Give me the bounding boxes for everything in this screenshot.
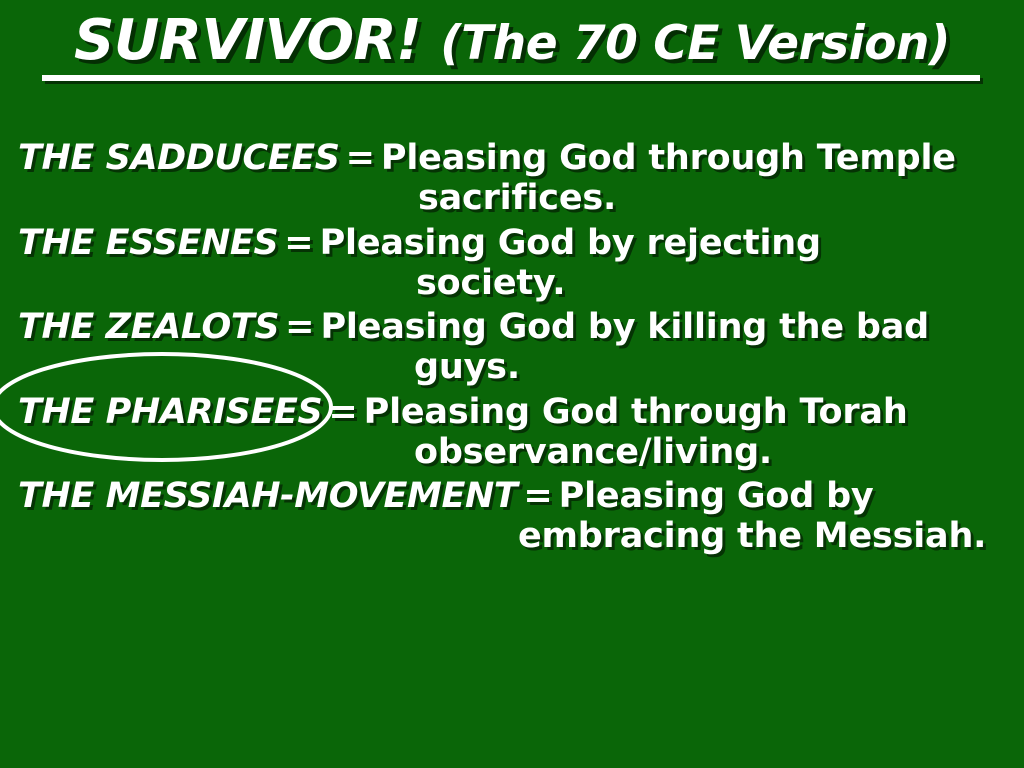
entry-description-line1: Pleasing God through Torah xyxy=(364,392,908,432)
slide-canvas: SURVIVOR! (The 70 CE Version) THE SADDUC… xyxy=(0,0,1024,768)
entry-continuation-line: society. xyxy=(18,264,1018,303)
entry-primary-line: THE MESSIAH-MOVEMENT=Pleasing God by xyxy=(18,478,1018,515)
entry-term-messiah-movement: THE MESSIAH-MOVEMENT xyxy=(18,476,517,516)
equals-sign: = xyxy=(517,476,558,516)
entry-description-line1: Pleasing God by xyxy=(559,476,874,516)
list-item: THE MESSIAH-MOVEMENT=Pleasing God by emb… xyxy=(18,478,1018,556)
entry-description-line1: Pleasing God through Temple xyxy=(381,138,956,178)
list-item: THE PHARISEES=Pleasing God through Torah… xyxy=(18,394,1018,472)
entry-primary-line: THE PHARISEES=Pleasing God through Torah xyxy=(18,394,1018,431)
equals-sign: = xyxy=(278,223,319,263)
equals-sign: = xyxy=(279,307,320,347)
list-item: THE SADDUCEES=Pleasing God through Templ… xyxy=(18,140,1018,218)
equals-sign: = xyxy=(340,138,381,178)
entry-continuation-line: sacrifices. xyxy=(18,179,1018,218)
page-subtitle: (The 70 CE Version) xyxy=(440,16,950,71)
list-item: THE ZEALOTS=Pleasing God by killing the … xyxy=(18,309,1018,387)
entry-primary-line: THE ESSENES=Pleasing God by rejecting xyxy=(18,225,1018,262)
entry-primary-line: THE ZEALOTS=Pleasing God by killing the … xyxy=(18,309,1018,346)
slide-title-inner: SURVIVOR! (The 70 CE Version) xyxy=(70,8,954,79)
entry-description-line1: Pleasing God by rejecting xyxy=(320,223,821,263)
slide-title-block: SURVIVOR! (The 70 CE Version) xyxy=(0,8,1024,79)
entry-continuation-line: observance/living. xyxy=(18,433,1018,472)
entry-term-sadducees: THE SADDUCEES xyxy=(18,138,340,178)
entry-description-line2: guys. xyxy=(414,348,520,387)
entry-description-line2: sacrifices. xyxy=(418,179,616,218)
entry-term-pharisees: THE PHARISEES xyxy=(18,392,322,432)
entry-continuation-line: guys. xyxy=(18,348,1018,387)
entry-description-line2: embracing the Messiah. xyxy=(518,517,986,556)
title-underline xyxy=(42,75,980,81)
entry-term-essenes: THE ESSENES xyxy=(18,223,278,263)
list-item: THE ESSENES=Pleasing God by rejecting so… xyxy=(18,225,1018,303)
entry-continuation-line: embracing the Messiah. xyxy=(18,517,1018,556)
equals-sign: = xyxy=(322,392,363,432)
entry-description-line2: society. xyxy=(416,264,565,303)
entry-description-line2: observance/living. xyxy=(414,433,772,472)
entry-term-zealots: THE ZEALOTS xyxy=(18,307,279,347)
entry-list: THE SADDUCEES=Pleasing God through Templ… xyxy=(18,140,1018,563)
entry-primary-line: THE SADDUCEES=Pleasing God through Templ… xyxy=(18,140,1018,177)
page-title: SURVIVOR! xyxy=(74,8,440,73)
entry-description-line1: Pleasing God by killing the bad xyxy=(320,307,929,347)
